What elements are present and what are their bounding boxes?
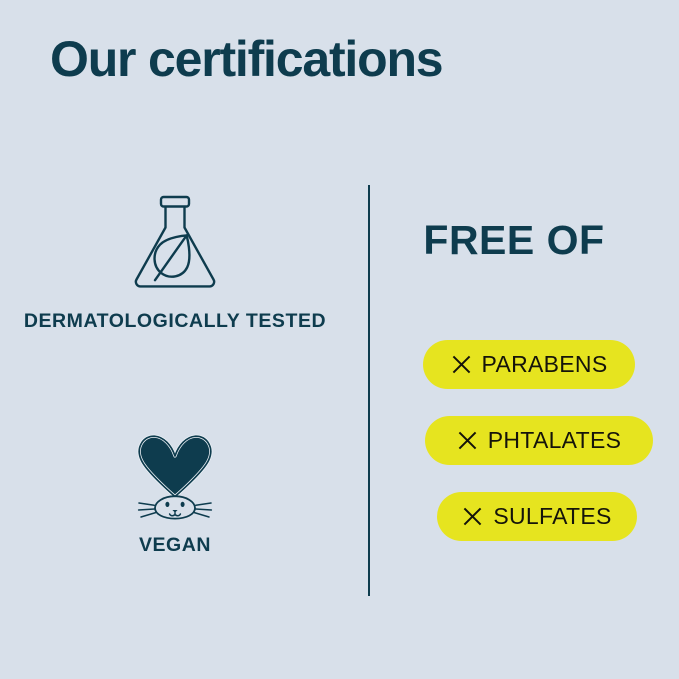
free-of-pill-parabens: PARABENS [423,340,635,389]
rabbit-heart-ears-icon [0,425,350,521]
free-of-pill-sulfates: SULFATES [437,492,637,541]
certifications-column: DERMATOLOGICALLY TESTED [0,185,350,605]
certification-item-vegan: VEGAN [0,425,350,559]
x-icon [462,506,483,527]
x-icon [457,430,478,451]
certification-label: VEGAN [0,533,350,559]
free-of-pill-label: PARABENS [482,351,608,378]
free-of-column: FREE OF PARABENS PHTALATES [390,185,679,605]
vertical-divider [368,185,370,596]
certification-label: DERMATOLOGICALLY TESTED [0,309,350,335]
flask-leaf-icon [0,191,350,295]
x-icon [451,354,472,375]
free-of-heading: FREE OF [390,214,638,266]
page-title: Our certifications [50,29,442,90]
certifications-panel: Our certifications DERMATOLOGICALLY TEST… [0,0,679,679]
free-of-pill-phtalates: PHTALATES [425,416,653,465]
free-of-pill-label: PHTALATES [488,427,622,454]
free-of-pill-label: SULFATES [493,503,611,530]
certification-item-dermatologically-tested: DERMATOLOGICALLY TESTED [0,191,350,335]
